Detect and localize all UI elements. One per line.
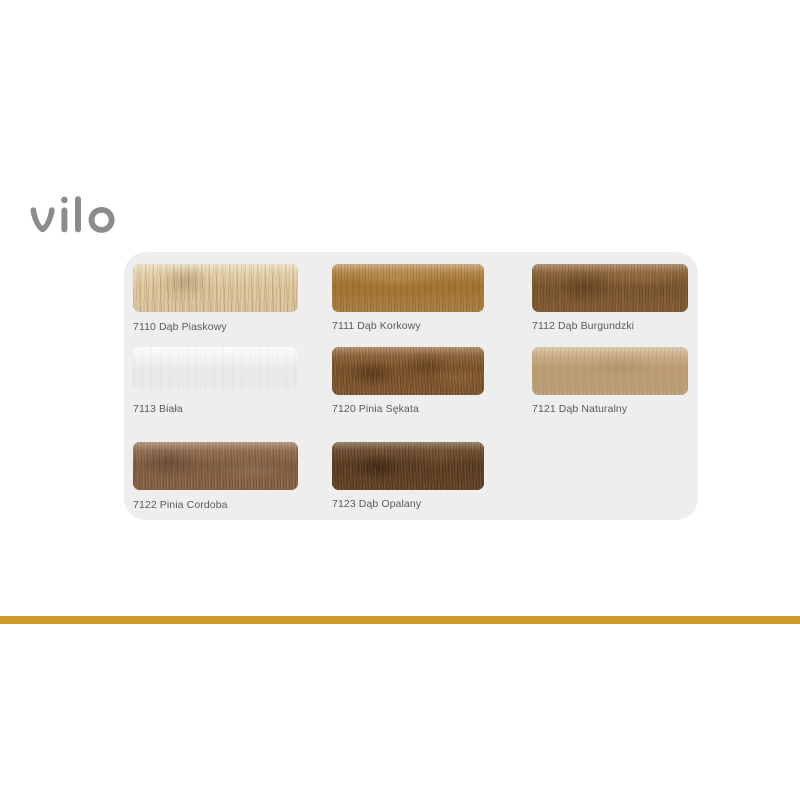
swatch-grid: 7110 Dąb Piaskowy 7111 Dąb Korkowy 7112 …: [124, 252, 698, 520]
wood-grain-texture: [332, 442, 484, 490]
swatch-chip-7121[interactable]: [532, 347, 688, 395]
swatch-chip-7120[interactable]: [332, 347, 484, 395]
swatch-label-7113: 7113 Biała: [133, 403, 298, 416]
swatch-label-7110: 7110 Dąb Piaskowy: [133, 321, 298, 334]
swatch-item-7122[interactable]: 7122 Pinia Cordoba: [133, 442, 298, 512]
swatch-item-7110[interactable]: 7110 Dąb Piaskowy: [133, 264, 298, 334]
swatch-label-7111: 7111 Dąb Korkowy: [332, 320, 484, 333]
gold-accent-bar: [0, 616, 800, 624]
swatch-chip-7122[interactable]: [133, 442, 298, 490]
vilo-wordmark-icon: [28, 196, 148, 246]
swatch-chip-7111[interactable]: [332, 264, 484, 312]
swatch-label-7112: 7112 Dąb Burgundzki: [532, 320, 688, 333]
swatch-chip-7112[interactable]: [532, 264, 688, 312]
wood-grain-texture: [133, 264, 298, 312]
swatch-item-7112[interactable]: 7112 Dąb Burgundzki: [532, 264, 688, 333]
swatch-item-7113[interactable]: 7113 Biała: [133, 347, 298, 416]
swatch-item-7120[interactable]: 7120 Pinia Sękata: [332, 347, 484, 416]
swatch-label-7123: 7123 Dąb Opalany: [332, 498, 484, 511]
wood-grain-texture: [332, 264, 484, 312]
swatch-chip-7110[interactable]: [133, 264, 298, 312]
swatch-item-7111[interactable]: 7111 Dąb Korkowy: [332, 264, 484, 333]
solid-colour-texture: [133, 347, 298, 391]
swatch-item-7123[interactable]: 7123 Dąb Opalany: [332, 442, 484, 511]
swatch-chip-7113[interactable]: [133, 347, 298, 391]
swatch-item-7121[interactable]: 7121 Dąb Naturalny: [532, 347, 688, 416]
swatch-panel: 7110 Dąb Piaskowy 7111 Dąb Korkowy 7112 …: [124, 252, 698, 520]
swatch-chip-7123[interactable]: [332, 442, 484, 490]
swatch-label-7120: 7120 Pinia Sękata: [332, 403, 484, 416]
wood-grain-texture: [332, 347, 484, 395]
swatch-label-7122: 7122 Pinia Cordoba: [133, 499, 298, 512]
page-root: 7110 Dąb Piaskowy 7111 Dąb Korkowy 7112 …: [0, 0, 800, 800]
wood-grain-texture: [532, 264, 688, 312]
vilo-logo: [28, 196, 148, 246]
wood-grain-texture: [133, 442, 298, 490]
wood-grain-texture: [532, 347, 688, 395]
swatch-label-7121: 7121 Dąb Naturalny: [532, 403, 688, 416]
